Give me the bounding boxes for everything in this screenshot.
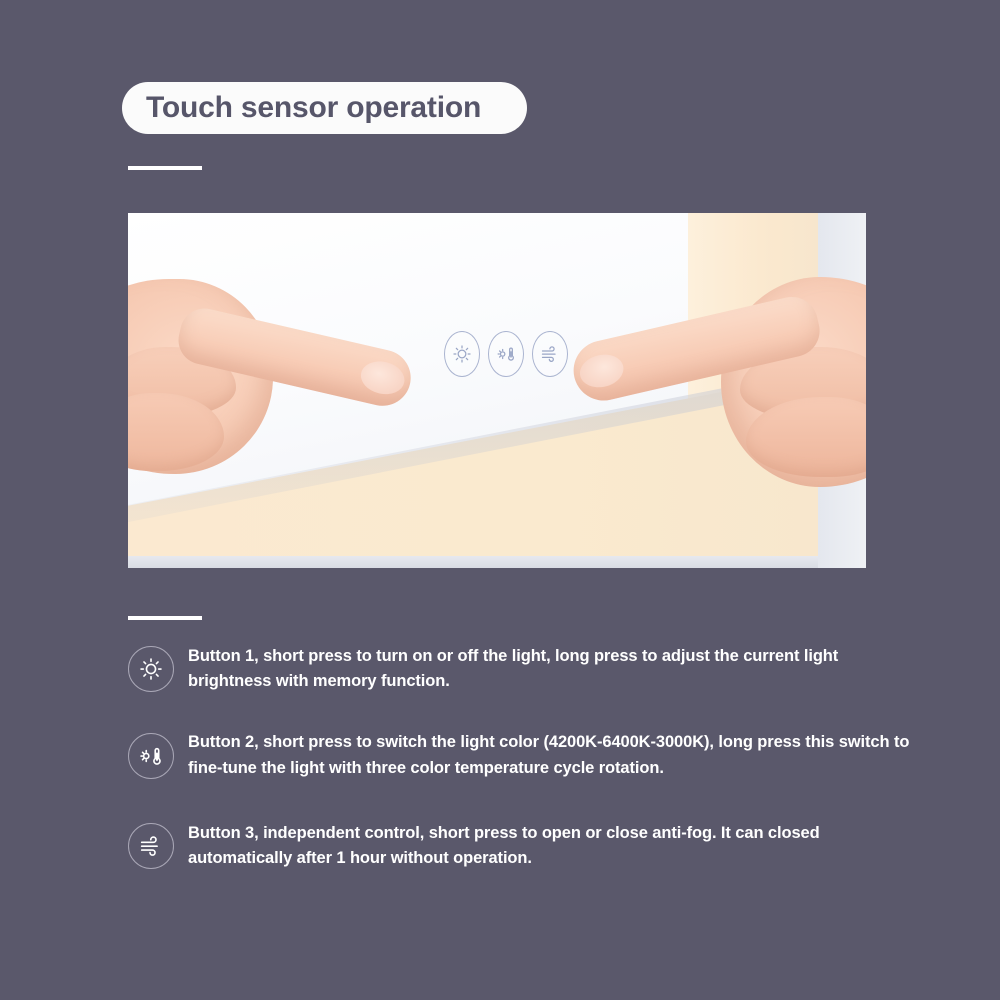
instruction-text-button-2: Button 2, short press to switch the ligh… [188, 730, 918, 780]
right-hand-fingernail [577, 350, 627, 391]
instruction-row-button-1: Button 1, short press to turn on or off … [128, 644, 918, 694]
instruction-text-button-3: Button 3, independent control, short pre… [188, 821, 918, 871]
color-temperature-thermometer-icon [128, 733, 174, 779]
page-title: Touch sensor operation [146, 91, 481, 125]
left-hand-fingernail [358, 357, 408, 398]
left-hand [128, 251, 438, 481]
divider-middle [128, 616, 202, 620]
touch-button-1-brightness[interactable] [444, 331, 480, 377]
brightness-sun-icon [128, 646, 174, 692]
color-temperature-thermometer-icon [496, 344, 516, 364]
touch-sensor-button-group [444, 331, 568, 377]
right-hand [546, 243, 866, 493]
anti-fog-wind-icon [540, 344, 560, 364]
instruction-list: Button 1, short press to turn on or off … [128, 644, 918, 893]
touch-button-2-color-temperature[interactable] [488, 331, 524, 377]
page-title-pill: Touch sensor operation [122, 82, 527, 134]
instruction-row-button-3: Button 3, independent control, short pre… [128, 821, 918, 871]
divider-top [128, 166, 202, 170]
instruction-row-button-2: Button 2, short press to switch the ligh… [128, 730, 918, 780]
mirror-bottom-edge [128, 556, 818, 568]
brightness-sun-icon [452, 344, 472, 364]
instruction-text-button-1: Button 1, short press to turn on or off … [188, 644, 918, 694]
anti-fog-wind-icon [128, 823, 174, 869]
touch-button-3-anti-fog[interactable] [532, 331, 568, 377]
product-photo [128, 213, 866, 568]
